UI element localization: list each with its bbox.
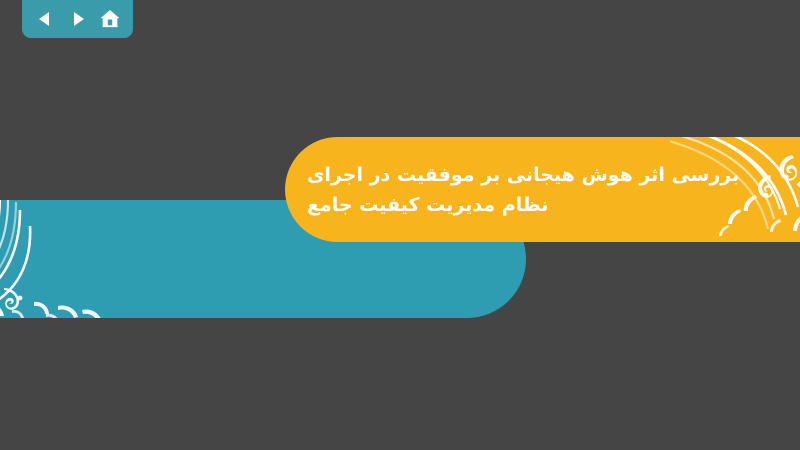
presentation-slide: بررسی اثر هوش هیجانی بر موفقیت در اجرای …: [0, 0, 800, 450]
previous-slide-button[interactable]: [32, 6, 58, 32]
home-icon: [99, 8, 121, 30]
slide-title: بررسی اثر هوش هیجانی بر موفقیت در اجرای …: [307, 137, 677, 242]
orange-title-band: بررسی اثر هوش هیجانی بر موفقیت در اجرای …: [285, 137, 800, 242]
next-slide-button[interactable]: [65, 6, 91, 32]
triangle-left-icon: [36, 10, 54, 28]
arabesque-corner-ornament-teal: [0, 200, 150, 318]
home-button[interactable]: [97, 6, 123, 32]
slide-navigation-bar: [22, 0, 133, 38]
triangle-right-icon: [69, 10, 87, 28]
slide-title-line-1: بررسی اثر هوش هیجانی بر موفقیت در اجرای: [307, 160, 739, 190]
slide-title-line-2: نظام مدیریت کیفیت جامع: [307, 190, 548, 220]
